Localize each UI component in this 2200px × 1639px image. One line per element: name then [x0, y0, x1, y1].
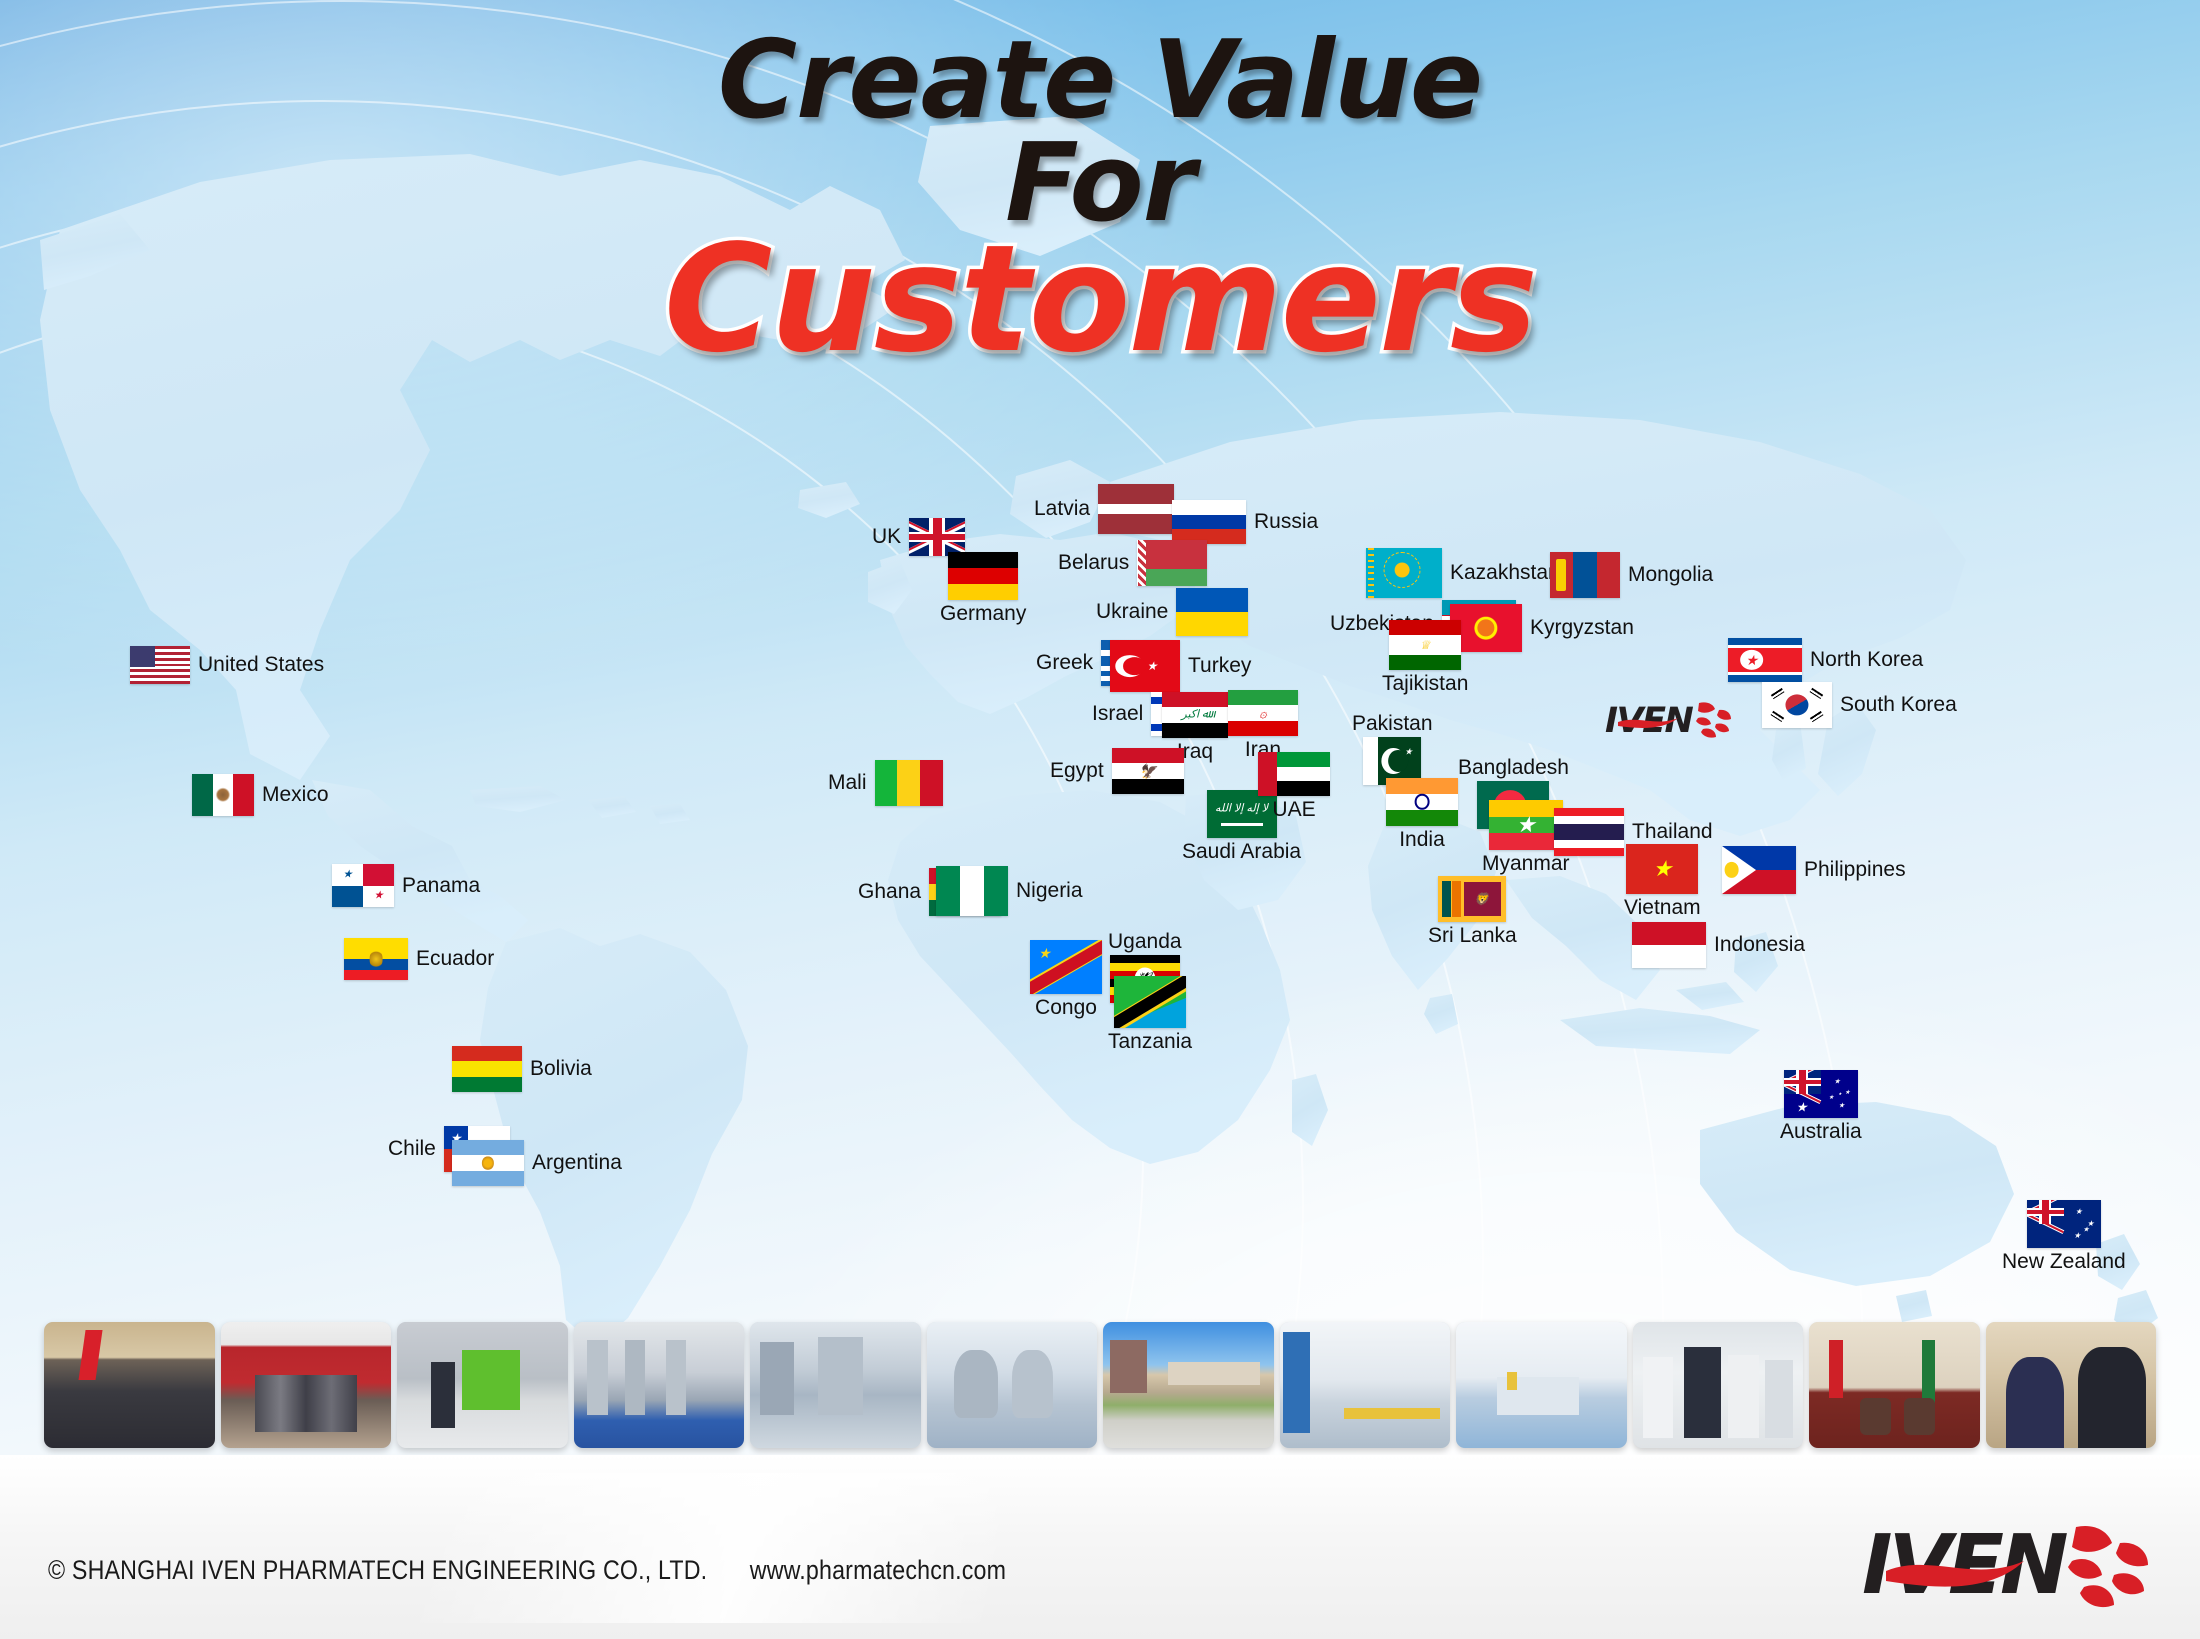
country-label: UAE — [1272, 798, 1315, 821]
country-marker-egypt[interactable]: 🦅Egypt — [1050, 748, 1184, 794]
flag-icon-mm: ★ — [1489, 800, 1563, 850]
headline-line-2: For — [0, 133, 2200, 236]
country-label: Mali — [828, 771, 867, 794]
country-label: Congo — [1035, 996, 1097, 1019]
photo-thumbnail — [927, 1322, 1098, 1448]
flag-icon-kp: ★ — [1728, 638, 1802, 682]
flag-icon-th — [1554, 808, 1624, 856]
flag-icon-vn: ★ — [1626, 844, 1698, 894]
country-marker-tanzania[interactable]: Tanzania — [1108, 976, 1192, 1053]
country-label: Sri Lanka — [1428, 924, 1517, 947]
headline-line-3: Customers — [664, 213, 1536, 385]
headline-block: Create Value For Customers — [0, 30, 2200, 370]
country-marker-australia[interactable]: ★ ★★★★★ Australia — [1780, 1070, 1862, 1143]
country-label: Greek — [1036, 651, 1093, 674]
iven-logo-footer: IVEN — [1862, 1521, 2154, 1613]
country-label: Belarus — [1058, 551, 1129, 574]
country-marker-belarus[interactable]: Belarus — [1058, 540, 1207, 586]
photo-thumbnail — [44, 1322, 215, 1448]
country-marker-uk[interactable]: UK — [872, 518, 965, 556]
country-marker-ecuador[interactable]: Ecuador — [344, 938, 494, 980]
country-label: United States — [198, 653, 324, 676]
photo-thumbnail — [750, 1322, 921, 1448]
country-marker-uae[interactable]: UAE — [1258, 752, 1330, 821]
country-marker-vietnam[interactable]: ★Vietnam — [1624, 844, 1701, 919]
photo-thumbnail — [221, 1322, 392, 1448]
country-marker-turkey[interactable]: ★Turkey — [1110, 640, 1251, 692]
flag-icon-by — [1137, 540, 1207, 586]
country-marker-united-states[interactable]: United States — [130, 646, 324, 684]
country-label: Turkey — [1188, 654, 1251, 677]
country-label: Chile — [388, 1137, 436, 1160]
flag-icon-lk: 🦁 — [1438, 876, 1506, 922]
flag-icon-eg: 🦅 — [1112, 748, 1184, 794]
flag-icon-in — [1386, 778, 1458, 826]
country-marker-north-korea[interactable]: ★North Korea — [1728, 638, 1923, 682]
country-marker-mongolia[interactable]: Mongolia — [1550, 552, 1713, 598]
flag-icon-ng — [936, 866, 1008, 916]
flag-icon-ua — [1176, 588, 1248, 636]
flag-icon-nz: ★★★★ — [2027, 1200, 2101, 1248]
country-label: Uganda — [1108, 930, 1182, 953]
country-label: Saudi Arabia — [1182, 840, 1301, 863]
photo-thumbnail — [397, 1322, 568, 1448]
photo-thumbnail — [1103, 1322, 1274, 1448]
country-label: Mexico — [262, 783, 329, 806]
photo-thumbnail — [1280, 1322, 1451, 1448]
country-label: Thailand — [1632, 820, 1713, 843]
photo-thumbnail — [574, 1322, 745, 1448]
country-label: Kyrgyzstan — [1530, 616, 1634, 639]
country-marker-russia[interactable]: Russia — [1172, 500, 1318, 544]
photo-strip — [0, 1322, 2200, 1448]
flag-icon-kr — [1762, 682, 1832, 728]
flag-icon-ir: ۞ — [1228, 690, 1298, 736]
flag-icon-mn — [1550, 552, 1620, 598]
country-marker-iran[interactable]: ۞Iran — [1228, 690, 1298, 761]
country-label: Germany — [940, 602, 1026, 625]
country-marker-germany[interactable]: Germany — [940, 552, 1026, 625]
country-marker-mali[interactable]: Mali — [828, 760, 943, 806]
country-label: UK — [872, 525, 901, 548]
country-label: Panama — [402, 874, 480, 897]
country-label: Pakistan — [1352, 712, 1433, 735]
photo-thumbnail — [1633, 1322, 1804, 1448]
flag-icon-ph — [1722, 846, 1796, 894]
country-label: Philippines — [1804, 858, 1906, 881]
country-marker-ukraine[interactable]: Ukraine — [1096, 588, 1248, 636]
country-marker-india[interactable]: India — [1386, 778, 1458, 851]
country-marker-pakistan[interactable]: ★Pakistan — [1352, 712, 1433, 785]
country-label: Russia — [1254, 510, 1318, 533]
country-label: Nigeria — [1016, 879, 1083, 902]
country-label: Argentina — [532, 1151, 622, 1174]
country-marker-congo[interactable]: ★Congo — [1030, 940, 1102, 1019]
flag-icon-gb — [909, 518, 965, 556]
country-marker-south-korea[interactable]: South Korea — [1762, 682, 1957, 728]
photo-thumbnail — [1986, 1322, 2157, 1448]
country-label: Bolivia — [530, 1057, 592, 1080]
country-marker-philippines[interactable]: Philippines — [1722, 846, 1906, 894]
flag-icon-ae — [1258, 752, 1330, 796]
country-label: Kazakhstan — [1450, 561, 1560, 584]
country-label: Mongolia — [1628, 563, 1713, 586]
country-label: Latvia — [1034, 497, 1090, 520]
flag-icon-ec — [344, 938, 408, 980]
country-label: Tanzania — [1108, 1030, 1192, 1053]
flag-icon-pa: ★★ — [332, 864, 394, 907]
country-label: Israel — [1092, 702, 1143, 725]
country-label: Indonesia — [1714, 933, 1805, 956]
flag-icon-tr: ★ — [1110, 640, 1180, 692]
flag-icon-ru — [1172, 500, 1246, 544]
company-website[interactable]: www.pharmatechcn.com — [750, 1555, 1006, 1585]
flag-icon-lv — [1098, 484, 1174, 534]
country-label: Vietnam — [1624, 896, 1701, 919]
flag-icon-au: ★ ★★★★★ — [1784, 1070, 1858, 1118]
flag-icon-de — [948, 552, 1018, 600]
flag-icon-mx — [192, 774, 254, 816]
country-label: Tajikistan — [1382, 672, 1468, 695]
flag-icon-bo — [452, 1046, 522, 1092]
poster-canvas: Create Value For Customers United States… — [0, 0, 2200, 1639]
country-label: India — [1399, 828, 1445, 851]
photo-thumbnail — [1809, 1322, 1980, 1448]
country-label: Ukraine — [1096, 600, 1168, 623]
country-label: Bangladesh — [1458, 756, 1569, 779]
headline-line-1: Create Value — [0, 30, 2200, 133]
country-marker-nigeria[interactable]: Nigeria — [936, 866, 1083, 916]
photo-thumbnail — [1456, 1322, 1627, 1448]
country-marker-bolivia[interactable]: Bolivia — [452, 1046, 592, 1092]
country-label: Australia — [1780, 1120, 1862, 1143]
country-marker-sri-lanka[interactable]: 🦁Sri Lanka — [1428, 876, 1517, 947]
country-marker-tajikistan[interactable]: ♕Tajikistan — [1382, 620, 1468, 695]
flag-icon-tj: ♕ — [1389, 620, 1461, 670]
country-marker-indonesia[interactable]: Indonesia — [1632, 922, 1805, 968]
country-label: Egypt — [1050, 759, 1104, 782]
flag-icon-id — [1632, 922, 1706, 968]
country-marker-argentina[interactable]: Argentina — [452, 1140, 622, 1186]
country-label: Ghana — [858, 880, 921, 903]
country-label: Ecuador — [416, 947, 494, 970]
flag-icon-ml — [875, 760, 943, 806]
country-marker-mexico[interactable]: Mexico — [192, 774, 329, 816]
copyright-text: © SHANGHAI IVEN PHARMATECH ENGINEERING C… — [48, 1555, 1006, 1586]
country-marker-new-zealand[interactable]: ★★★★ New Zealand — [2002, 1200, 2126, 1273]
flag-icon-iq: ﷲ اكبر — [1162, 692, 1228, 738]
iven-logo-map: IVEN — [1605, 698, 1735, 744]
flag-icon-tz — [1114, 976, 1186, 1028]
flag-icon-kz — [1366, 548, 1442, 598]
country-marker-kazakhstan[interactable]: Kazakhstan — [1366, 548, 1560, 598]
country-marker-panama[interactable]: ★★Panama — [332, 864, 480, 907]
copyright-company: © SHANGHAI IVEN PHARMATECH ENGINEERING C… — [48, 1555, 707, 1585]
country-label: New Zealand — [2002, 1250, 2126, 1273]
svg-text:IVEN: IVEN — [1862, 1521, 2067, 1613]
country-marker-latvia[interactable]: Latvia — [1034, 484, 1174, 534]
country-marker-kyrgyzstan[interactable]: Kyrgyzstan — [1450, 604, 1634, 652]
country-label: North Korea — [1810, 648, 1923, 671]
flag-icon-us — [130, 646, 190, 684]
flag-icon-cd: ★ — [1030, 940, 1102, 994]
flag-icon-ar — [452, 1140, 524, 1186]
country-label: South Korea — [1840, 693, 1957, 716]
